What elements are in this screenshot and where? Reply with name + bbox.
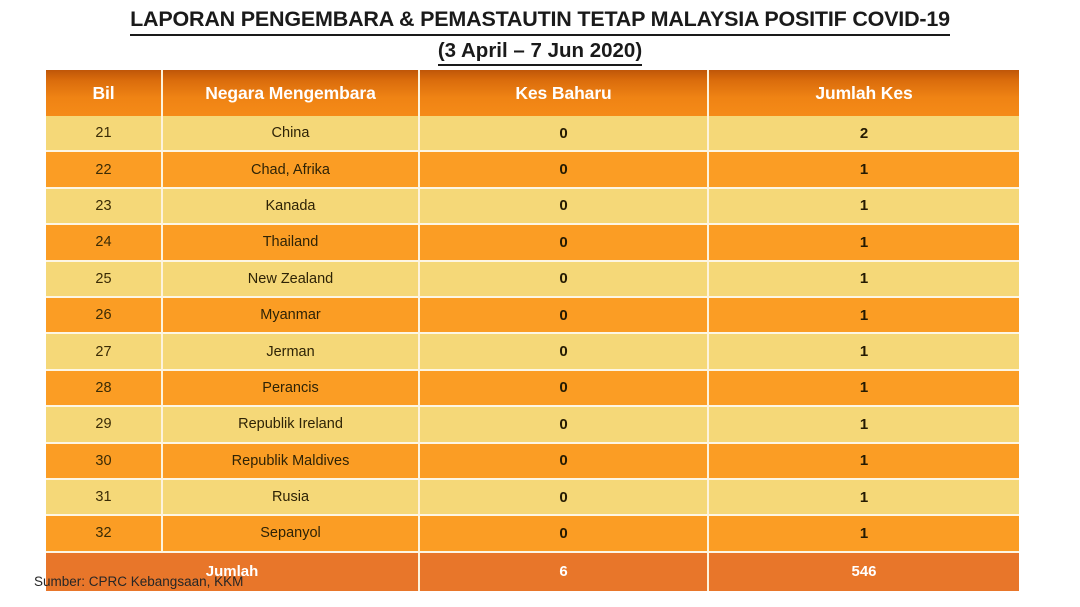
table-row: 21China02 [46, 116, 1019, 152]
table-row: 30Republik Maldives01 [46, 444, 1019, 480]
cell-jumlah-kes: 1 [709, 444, 1019, 480]
cell-kes-baharu: 0 [420, 407, 709, 443]
table-header: Bil Negara Mengembara Kes Baharu Jumlah … [46, 70, 1019, 116]
cell-bil: 32 [46, 516, 163, 552]
cell-kes-baharu: 0 [420, 262, 709, 298]
cell-jumlah-kes: 1 [709, 225, 1019, 261]
travellers-cases-table: Bil Negara Mengembara Kes Baharu Jumlah … [46, 70, 1019, 591]
cell-kes-baharu: 0 [420, 334, 709, 370]
cell-negara: Jerman [163, 334, 420, 370]
cell-bil: 30 [46, 444, 163, 480]
cell-negara: Republik Maldives [163, 444, 420, 480]
table-row: 28Perancis01 [46, 371, 1019, 407]
table-row: 24Thailand01 [46, 225, 1019, 261]
cell-jumlah-kes: 1 [709, 371, 1019, 407]
cell-bil: 28 [46, 371, 163, 407]
cell-bil: 27 [46, 334, 163, 370]
cell-jumlah-kes: 2 [709, 116, 1019, 152]
table-row: 25New Zealand01 [46, 262, 1019, 298]
table-header-row: Bil Negara Mengembara Kes Baharu Jumlah … [46, 70, 1019, 116]
cell-jumlah-kes: 1 [709, 516, 1019, 552]
cell-negara: Chad, Afrika [163, 152, 420, 188]
cell-bil: 22 [46, 152, 163, 188]
column-header-jumlah-kes: Jumlah Kes [709, 70, 1019, 116]
cell-bil: 24 [46, 225, 163, 261]
page-subtitle: (3 April – 7 Jun 2020) [438, 38, 642, 66]
table-body: 21China0222Chad, Afrika0123Kanada0124Tha… [46, 116, 1019, 553]
cell-bil: 23 [46, 189, 163, 225]
table-row: 27Jerman01 [46, 334, 1019, 370]
cell-jumlah-kes: 1 [709, 298, 1019, 334]
cell-negara: Kanada [163, 189, 420, 225]
cell-negara: New Zealand [163, 262, 420, 298]
cell-kes-baharu: 0 [420, 480, 709, 516]
cell-negara: China [163, 116, 420, 152]
cell-kes-baharu: 0 [420, 444, 709, 480]
page-subtitle-wrap: (3 April – 7 Jun 2020) [0, 38, 1080, 66]
table-row: 31Rusia01 [46, 480, 1019, 516]
table-row: 26Myanmar01 [46, 298, 1019, 334]
source-note: Sumber: CPRC Kebangsaan, KKM [34, 574, 243, 589]
cell-negara: Myanmar [163, 298, 420, 334]
table-row: 29Republik Ireland01 [46, 407, 1019, 443]
page-title: LAPORAN PENGEMBARA & PEMASTAUTIN TETAP M… [130, 6, 950, 36]
cell-negara: Rusia [163, 480, 420, 516]
column-header-bil: Bil [46, 70, 163, 116]
cell-jumlah-kes: 1 [709, 407, 1019, 443]
cell-kes-baharu: 0 [420, 298, 709, 334]
cell-jumlah-kes: 1 [709, 334, 1019, 370]
cell-kes-baharu: 0 [420, 225, 709, 261]
cell-kes-baharu: 0 [420, 516, 709, 552]
cell-kes-baharu: 0 [420, 152, 709, 188]
cell-jumlah-kes: 1 [709, 480, 1019, 516]
cell-kes-baharu: 0 [420, 371, 709, 407]
cell-bil: 31 [46, 480, 163, 516]
cell-bil: 25 [46, 262, 163, 298]
column-header-negara: Negara Mengembara [163, 70, 420, 116]
total-jumlah-kes: 546 [709, 553, 1019, 591]
cell-jumlah-kes: 1 [709, 152, 1019, 188]
cell-negara: Perancis [163, 371, 420, 407]
table-row: 22Chad, Afrika01 [46, 152, 1019, 188]
cell-negara: Republik Ireland [163, 407, 420, 443]
cell-kes-baharu: 0 [420, 189, 709, 225]
table-row: 23Kanada01 [46, 189, 1019, 225]
total-kes-baharu: 6 [420, 553, 709, 591]
cell-bil: 29 [46, 407, 163, 443]
cell-jumlah-kes: 1 [709, 189, 1019, 225]
column-header-kes-baharu: Kes Baharu [420, 70, 709, 116]
cell-negara: Thailand [163, 225, 420, 261]
table-row: 32Sepanyol01 [46, 516, 1019, 552]
cell-bil: 26 [46, 298, 163, 334]
cell-bil: 21 [46, 116, 163, 152]
title-block: LAPORAN PENGEMBARA & PEMASTAUTIN TETAP M… [0, 6, 1080, 66]
cell-jumlah-kes: 1 [709, 262, 1019, 298]
cell-negara: Sepanyol [163, 516, 420, 552]
cell-kes-baharu: 0 [420, 116, 709, 152]
